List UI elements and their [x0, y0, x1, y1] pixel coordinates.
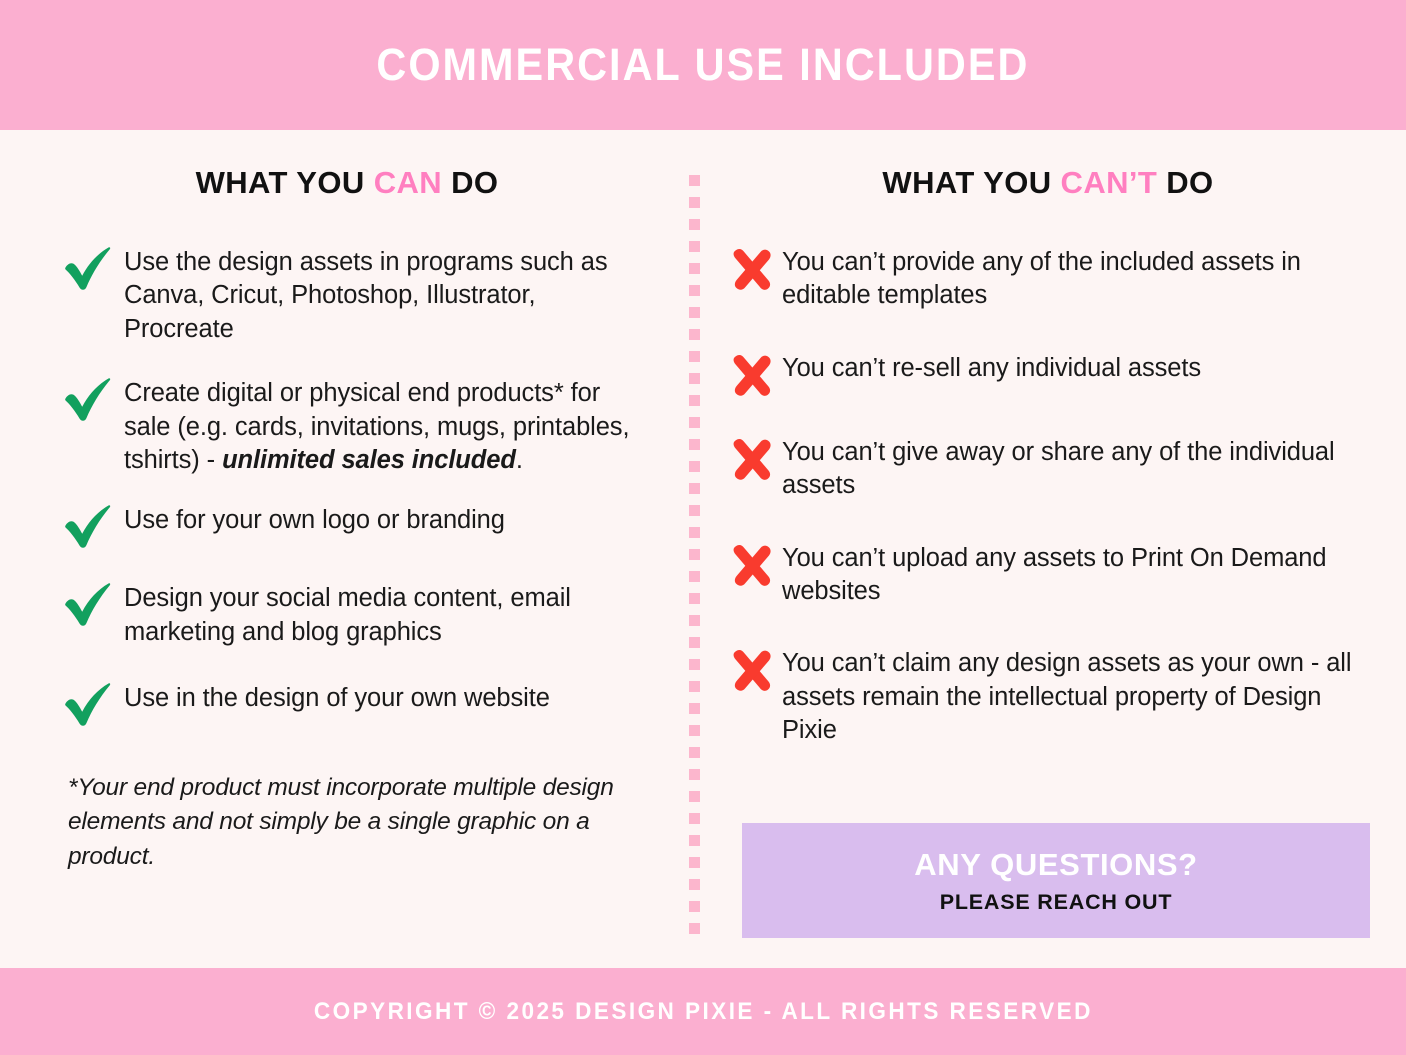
can-do-list: Use the design assets in programs such a…	[62, 243, 638, 727]
list-item: You can’t upload any assets to Print On …	[730, 539, 1366, 609]
can-do-heading: WHAT YOU CAN DO	[62, 165, 638, 201]
cross-icon-svg	[730, 353, 774, 397]
check-icon-svg	[62, 503, 112, 549]
check-icon-svg	[62, 376, 112, 422]
heading-accent-can: CAN	[374, 165, 442, 200]
heading-suffix: DO	[442, 165, 498, 200]
list-item-text: You can’t upload any assets to Print On …	[782, 539, 1366, 609]
copyright-text: COPYRIGHT © 2025 DESIGN PIXIE - ALL RIGH…	[314, 998, 1093, 1026]
check-icon-svg	[62, 581, 112, 627]
heading-prefix: WHAT YOU	[196, 165, 374, 200]
check-icon	[62, 376, 124, 422]
heading-prefix: WHAT YOU	[882, 165, 1060, 200]
check-icon	[62, 681, 124, 727]
emphasis-text: unlimited sales included	[222, 446, 516, 474]
check-icon	[62, 503, 124, 549]
list-item: Use for your own logo or branding	[62, 501, 638, 549]
cross-icon	[730, 353, 782, 397]
cross-icon-svg	[730, 543, 774, 587]
page-title: COMMERCIAL USE INCLUDED	[377, 39, 1030, 91]
list-item: You can’t provide any of the included as…	[730, 243, 1366, 313]
cta-title: ANY QUESTIONS?	[914, 847, 1197, 883]
footnote: *Your end product must incorporate multi…	[62, 771, 637, 874]
list-item-text: Use for your own logo or branding	[124, 501, 505, 537]
list-item-text: Design your social media content, email …	[124, 579, 638, 649]
cta-subtitle: PLEASE REACH OUT	[940, 890, 1173, 915]
cross-icon-svg	[730, 648, 774, 692]
cant-do-list: You can’t provide any of the included as…	[730, 243, 1366, 748]
cant-do-heading: WHAT YOU CAN’T DO	[730, 165, 1366, 201]
list-item: You can’t claim any design assets as you…	[730, 644, 1366, 747]
check-icon-svg	[62, 245, 112, 291]
cross-icon-svg	[730, 437, 774, 481]
footer-band: COPYRIGHT © 2025 DESIGN PIXIE - ALL RIGH…	[0, 968, 1406, 1055]
list-item: Create digital or physical end products*…	[62, 374, 638, 477]
license-terms-page: COMMERCIAL USE INCLUDED WHAT YOU CAN DO …	[0, 0, 1406, 1055]
list-item-text: You can’t provide any of the included as…	[782, 243, 1366, 313]
list-item-text: You can’t re-sell any individual assets	[782, 349, 1201, 385]
dotted-divider	[689, 175, 700, 935]
cross-icon	[730, 543, 782, 587]
cross-icon-svg	[730, 247, 774, 291]
list-item-text: You can’t give away or share any of the …	[782, 433, 1366, 503]
check-icon	[62, 245, 124, 291]
list-item: Use in the design of your own website	[62, 679, 638, 727]
check-icon-svg	[62, 681, 112, 727]
list-item: Design your social media content, email …	[62, 579, 638, 649]
cross-icon	[730, 247, 782, 291]
any-questions-box[interactable]: ANY QUESTIONS? PLEASE REACH OUT	[742, 823, 1370, 938]
list-item: You can’t re-sell any individual assets	[730, 349, 1366, 397]
list-item: Use the design assets in programs such a…	[62, 243, 638, 346]
list-item-text: Use the design assets in programs such a…	[124, 243, 638, 346]
list-item: You can’t give away or share any of the …	[730, 433, 1366, 503]
list-item-text: Create digital or physical end products*…	[124, 374, 638, 477]
heading-accent-cant: CAN’T	[1061, 165, 1158, 200]
list-item-text: Use in the design of your own website	[124, 679, 550, 715]
can-do-column: WHAT YOU CAN DO Use the design assets in…	[0, 130, 690, 968]
cross-icon	[730, 437, 782, 481]
cross-icon	[730, 648, 782, 692]
list-item-text: You can’t claim any design assets as you…	[782, 644, 1366, 747]
header-band: COMMERCIAL USE INCLUDED	[0, 0, 1406, 130]
heading-suffix: DO	[1157, 165, 1213, 200]
check-icon	[62, 581, 124, 627]
